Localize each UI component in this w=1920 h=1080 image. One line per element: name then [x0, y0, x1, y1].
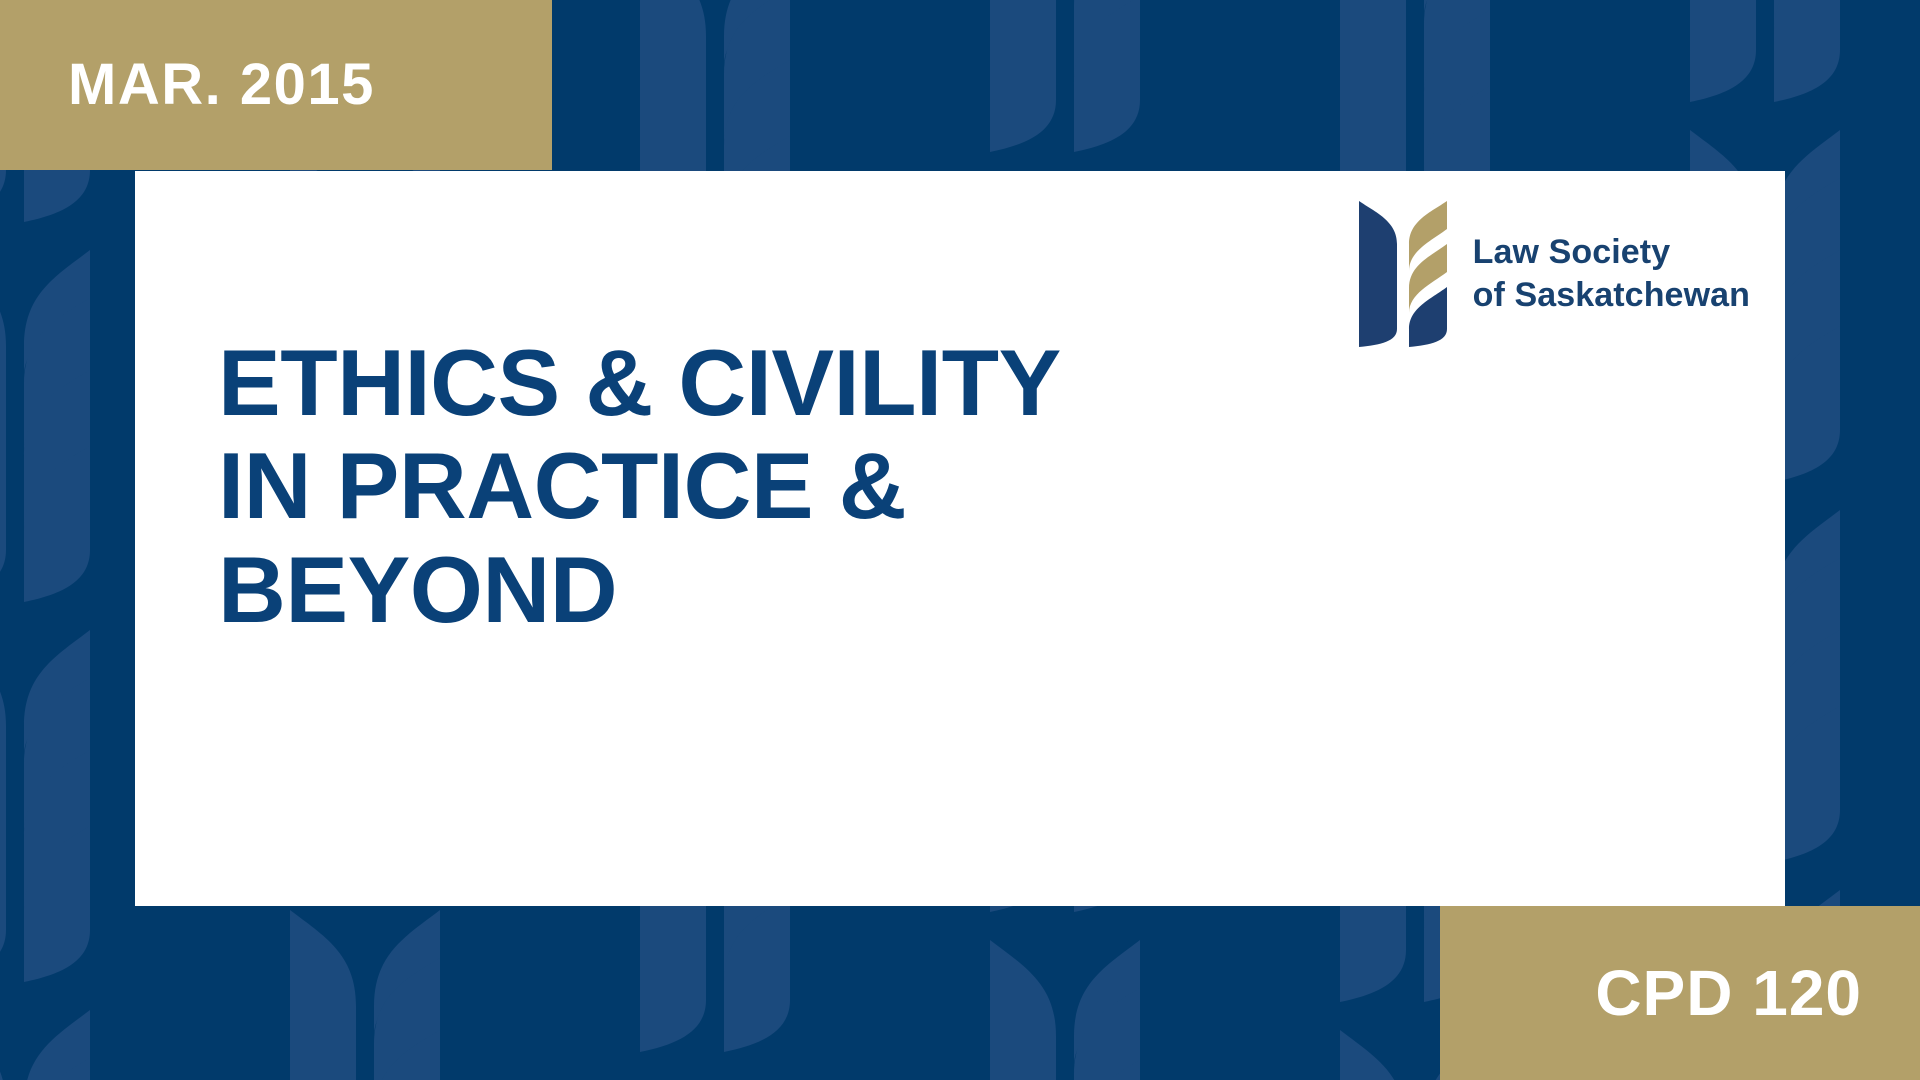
page-title: ETHICS & CIVILITY IN PRACTICE & BEYOND: [218, 331, 1398, 641]
cpd-badge-label: CPD 120: [1595, 961, 1920, 1025]
title-line-2: IN PRACTICE &: [218, 434, 1398, 537]
cpd-badge: CPD 120: [1440, 906, 1920, 1080]
wordmark-line-1: Law Society: [1473, 231, 1750, 274]
slide-canvas: MAR. 2015 Law Society of Saskatchewan ET…: [0, 0, 1920, 1080]
law-society-leaf-mark-icon: [1357, 199, 1449, 349]
title-line-3: BEYOND: [218, 538, 1398, 641]
content-card: Law Society of Saskatchewan ETHICS & CIV…: [135, 171, 1785, 906]
law-society-wordmark: Law Society of Saskatchewan: [1473, 231, 1750, 317]
date-banner-label: MAR. 2015: [0, 56, 375, 114]
law-society-logo: Law Society of Saskatchewan: [1357, 199, 1750, 349]
wordmark-line-2: of Saskatchewan: [1473, 274, 1750, 317]
date-banner: MAR. 2015: [0, 0, 552, 170]
title-line-1: ETHICS & CIVILITY: [218, 331, 1398, 434]
